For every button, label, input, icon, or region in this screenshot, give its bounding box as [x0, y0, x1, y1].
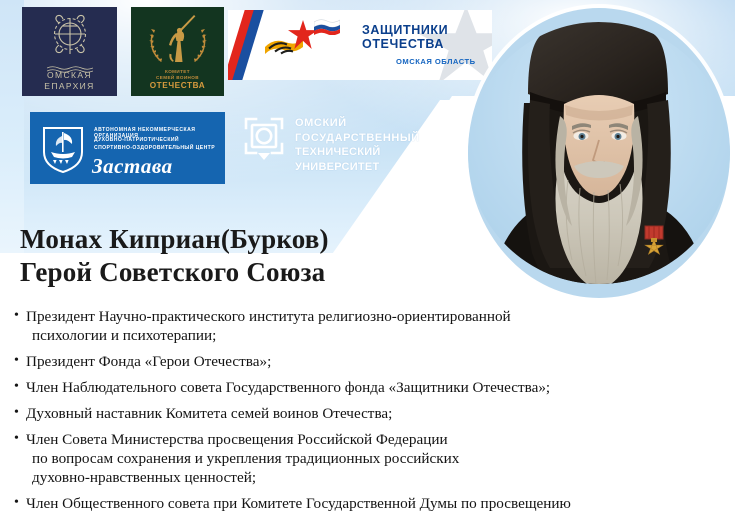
list-item-text: Президент Фонда «Герои Отечества»;: [26, 353, 271, 370]
omgtu-line-2: ГОСУДАРСТВЕННЫЙ: [295, 131, 468, 146]
list-item-text: Президент Научно-практического института…: [26, 308, 511, 325]
logo-omsk-eparchy: ОМСКАЯ ЕПАРХИЯ: [22, 7, 117, 96]
list-item-continuation: психологии и психотерапии;: [26, 326, 726, 345]
list-item: Член Общественного совета при Комитете Г…: [14, 494, 726, 513]
russian-flag-icon: [314, 19, 340, 35]
eparchy-line-2: ЕПАРХИЯ: [44, 81, 94, 92]
list-item: Член Наблюдательного совета Государствен…: [14, 378, 726, 397]
zastava-line-2-3: ДУХОВНО-ПАТРИОТИЧЕСКИЙ СПОРТИВНО-ОЗДОРОВ…: [94, 137, 215, 152]
defenders-label-block: ЗАЩИТНИКИ ОТЕЧЕСТВА ОМСКАЯ ОБЛАСТЬ: [362, 24, 476, 66]
defenders-line-2: ОТЕЧЕСТВА: [362, 38, 476, 52]
omgtu-mark-icon: [243, 116, 285, 162]
omgtu-label-block: ОМСКИЙ ГОСУДАРСТВЕННЫЙ ТЕХНИЧЕСКИЙ УНИВЕ…: [295, 116, 468, 174]
presentation-slide: ОМСКАЯ ЕПАРХИЯ: [0, 0, 735, 526]
shield-with-boat-icon: [40, 124, 86, 174]
portrait-photo: [468, 8, 730, 298]
orthodox-cross-icon: [45, 14, 95, 58]
wave-ornament-icon: [47, 60, 93, 67]
list-item-text: Член Совета Министерства просвещения Рос…: [26, 431, 448, 448]
title-line-1: Монах Киприан(Бурков): [20, 223, 329, 256]
list-item: Член Совета Министерства просвещения Рос…: [14, 430, 726, 487]
slide-title: Монах Киприан(Бурков) Герой Советского С…: [20, 223, 329, 289]
motherland-calls-statue-icon: [142, 13, 214, 69]
zastava-line-3: СПОРТИВНО-ОЗДОРОВИТЕЛЬНЫЙ ЦЕНТР: [94, 145, 215, 153]
defenders-line-3: ОМСКАЯ ОБЛАСТЬ: [396, 57, 476, 66]
list-item-text: Член Наблюдательного совета Государствен…: [26, 379, 550, 396]
omgtu-line-3: ТЕХНИЧЕСКИЙ УНИВЕРСИТЕТ: [295, 145, 468, 174]
list-item-continuation-2: духовно-нравственных ценностей;: [26, 468, 726, 487]
logo-committee-families-of-warriors: КОМИТЕТ СЕМЕЙ ВОИНОВ ОТЕЧЕСТВА: [131, 7, 224, 96]
list-item: Духовный наставник Комитета семей воинов…: [14, 404, 726, 423]
list-item-continuation: по вопросам сохранения и укрепления трад…: [26, 449, 726, 468]
logo-zastava-ermaka: АВТОНОМНАЯ НЕКОММЕРЧЕСКАЯ ОРГАНИЗАЦИЯ ДУ…: [30, 112, 225, 184]
credentials-list: Президент Научно-практического института…: [14, 307, 726, 520]
zastava-line-2: ДУХОВНО-ПАТРИОТИЧЕСКИЙ: [94, 137, 215, 145]
list-item: Президент Фонда «Герои Отечества»;: [14, 352, 726, 371]
logo-omgtu: ОМСКИЙ ГОСУДАРСТВЕННЫЙ ТЕХНИЧЕСКИЙ УНИВЕ…: [243, 112, 468, 170]
ksvo-line-2: СЕМЕЙ ВОИНОВ: [156, 75, 199, 81]
title-line-2: Герой Советского Союза: [20, 256, 329, 289]
logo-defenders-of-the-fatherland: ЗАЩИТНИКИ ОТЕЧЕСТВА ОМСКАЯ ОБЛАСТЬ: [228, 10, 492, 80]
left-edge-gradient: [0, 0, 24, 253]
eparchy-line-1: ОМСКАЯ: [44, 70, 94, 81]
defenders-line-1: ЗАЩИТНИКИ: [362, 24, 476, 38]
ksvo-line-3: ОТЕЧЕСТВА: [150, 81, 206, 90]
zastava-wordmark: Застава Ермака: [92, 154, 225, 184]
list-item-text: Член Общественного совета при Комитете Г…: [26, 495, 571, 512]
logo-omsk-eparchy-label: ОМСКАЯ ЕПАРХИЯ: [44, 70, 94, 92]
defenders-emblem: ЗАЩИТНИКИ ОТЕЧЕСТВА ОМСКАЯ ОБЛАСТЬ: [264, 24, 476, 66]
list-item: Президент Научно-практического института…: [14, 307, 726, 345]
list-item-text: Духовный наставник Комитета семей воинов…: [26, 405, 392, 422]
omgtu-line-1: ОМСКИЙ: [295, 116, 468, 131]
